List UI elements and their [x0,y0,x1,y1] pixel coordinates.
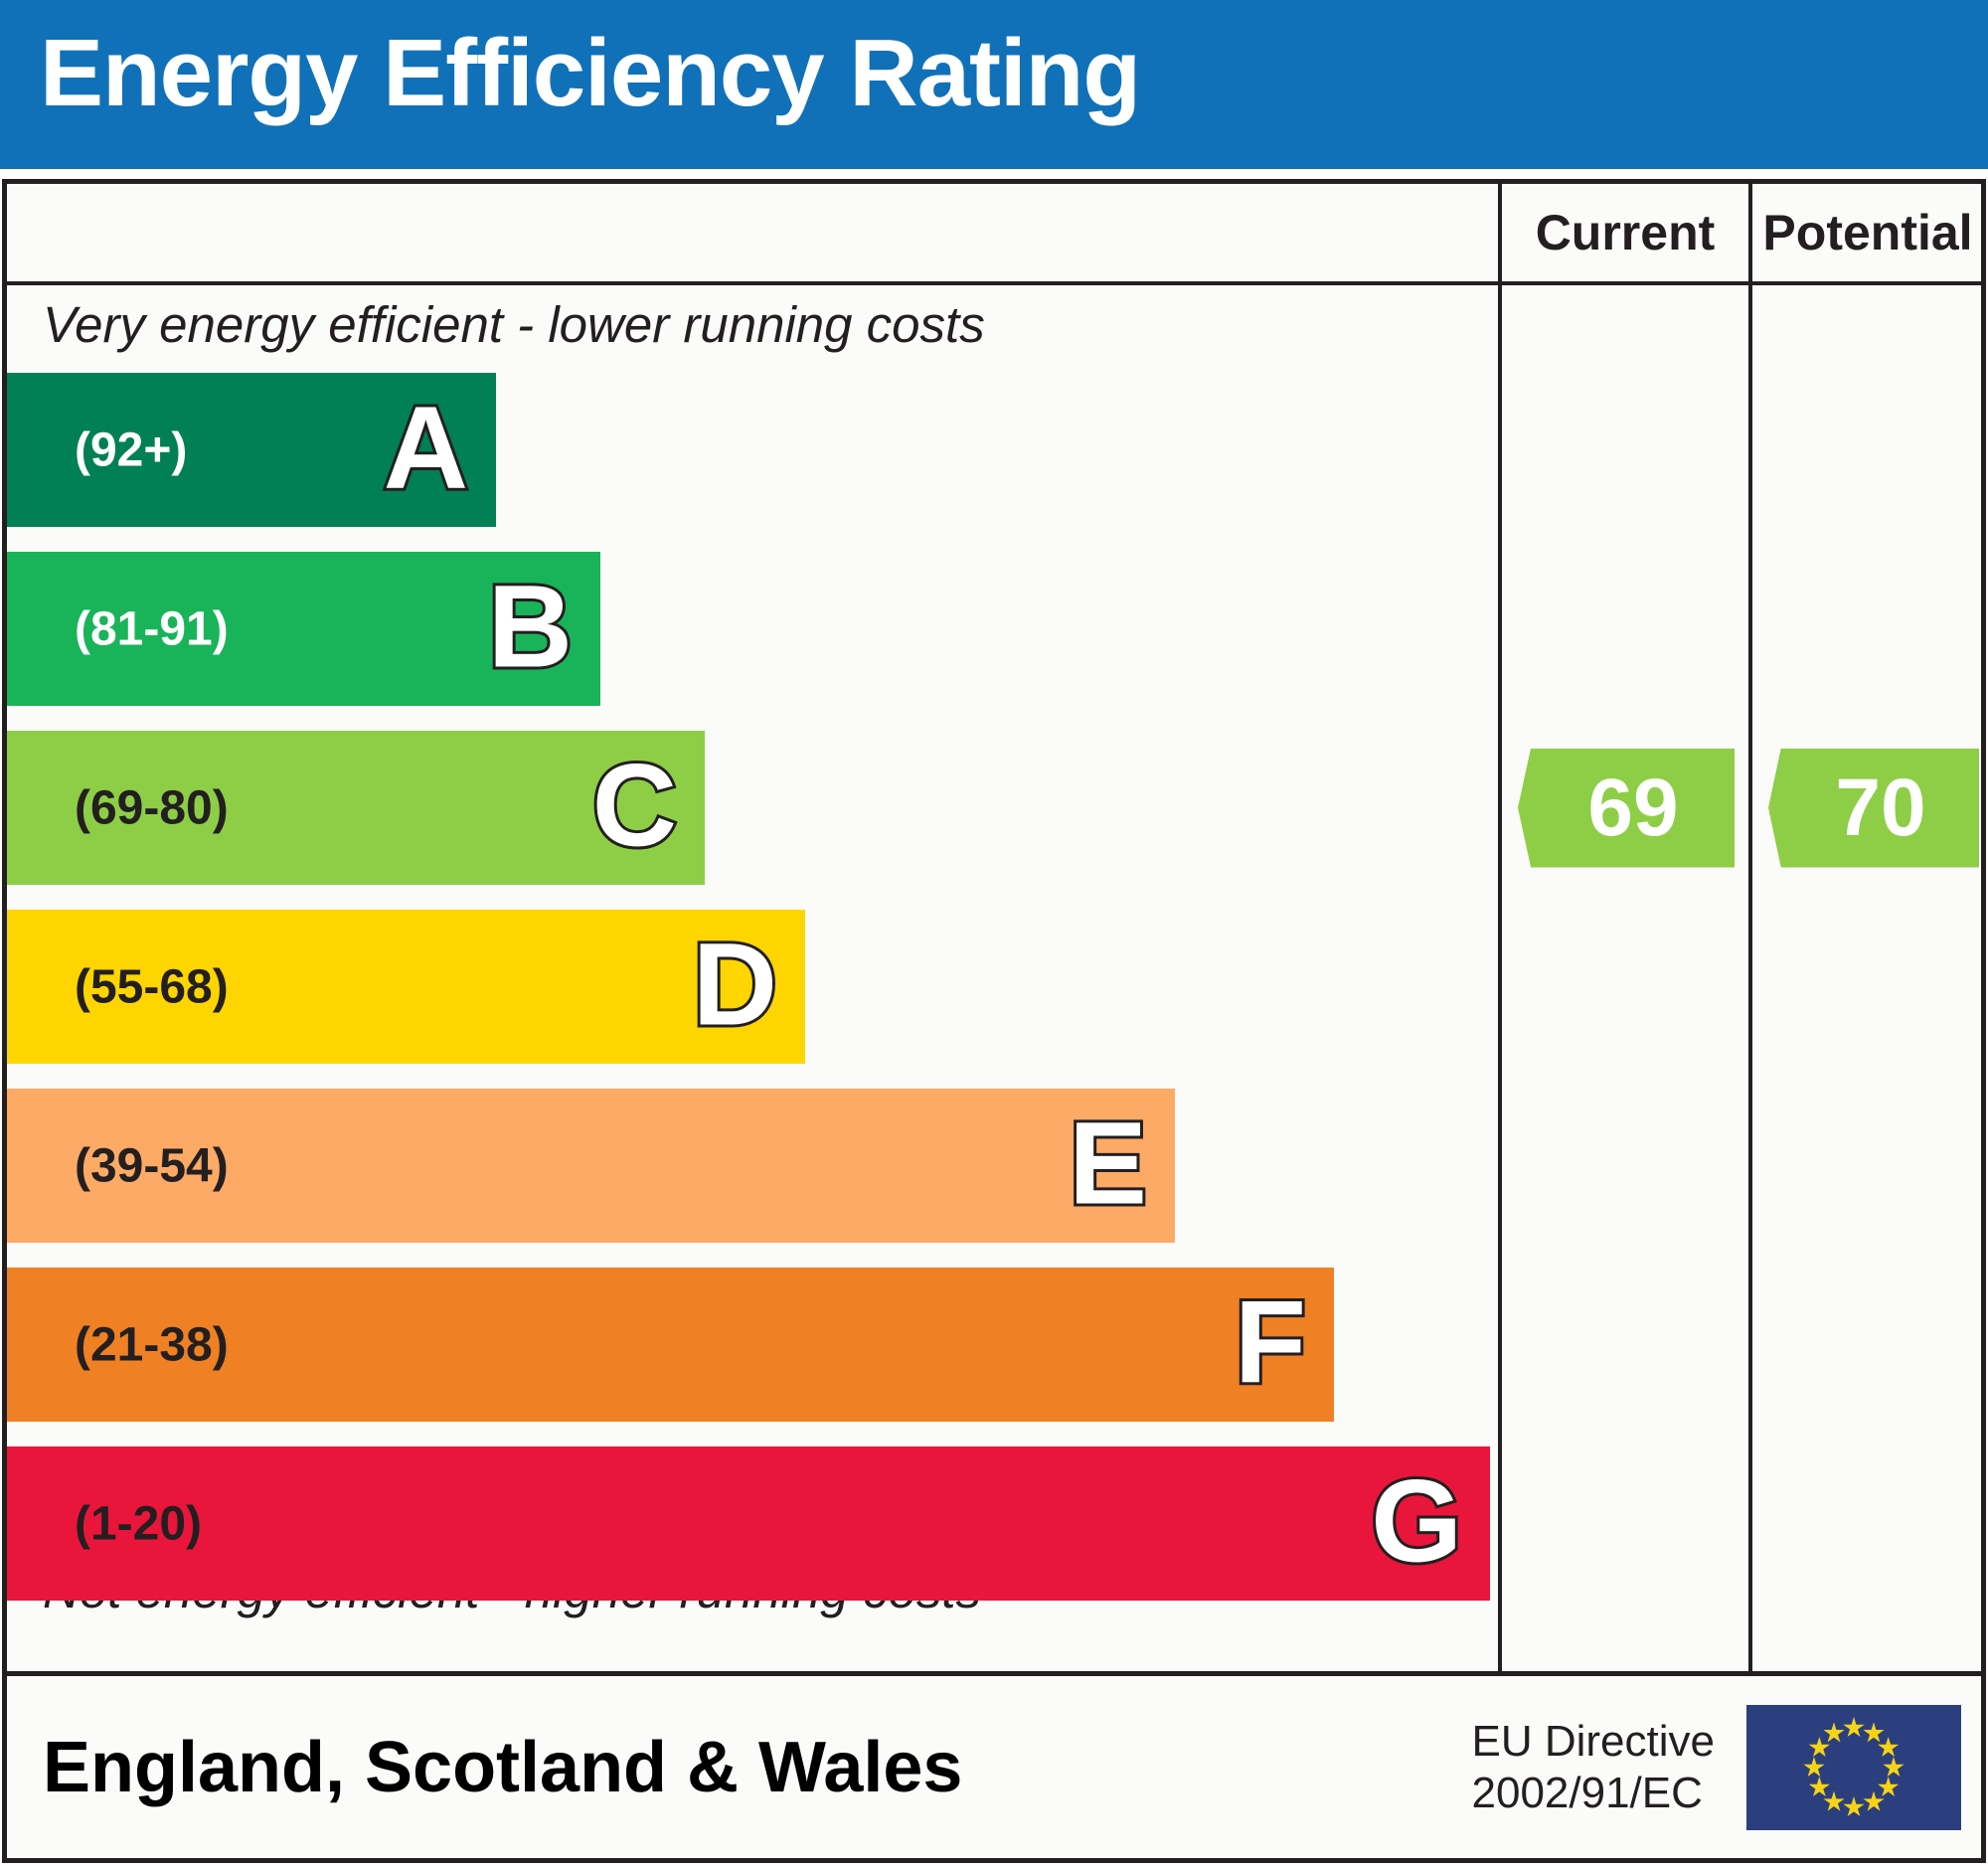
band-a-letter: A [384,389,468,506]
vertical-divider-current-potential [1748,184,1752,1671]
band-a-range: (92+) [75,423,187,477]
page-title: Energy Efficiency Rating [40,16,1140,130]
eu-star-icon [1863,1722,1885,1744]
eu-star-icon [1808,1777,1830,1798]
band-a: (92+) A [7,373,496,527]
eu-star-icon [1823,1722,1845,1744]
band-d-range: (55-68) [75,959,229,1014]
band-d-letter: D [693,926,777,1043]
rating-bands: (92+) A (81-91) B (69-80) C (55-68) D (3… [7,373,1498,1566]
band-g: (1-20) G [7,1446,1490,1601]
potential-rating-marker: 70 [1768,749,1979,868]
eu-star-icon [1843,1717,1865,1739]
band-b: (81-91) B [7,552,600,706]
band-e: (39-54) E [7,1089,1175,1243]
eu-star-icon [1863,1791,1885,1813]
band-c-range: (69-80) [75,780,229,835]
band-e-range: (39-54) [75,1138,229,1193]
eu-star-icon [1803,1757,1825,1779]
eu-star-icon [1823,1791,1845,1813]
eu-directive-line-1: EU Directive [1472,1716,1716,1768]
energy-efficiency-certificate: Energy Efficiency Rating Current Potenti… [0,0,1988,1867]
caption-top: Very energy efficient - lower running co… [43,295,985,354]
band-c: (69-80) C [7,731,705,885]
country-label: England, Scotland & Wales [43,1727,962,1808]
title-bar: Energy Efficiency Rating [0,0,1988,169]
current-rating-marker: 69 [1518,749,1735,868]
eu-star-icon [1808,1737,1830,1759]
eu-star-icon [1843,1796,1865,1818]
band-b-range: (81-91) [75,601,229,656]
eu-directive-label: EU Directive 2002/91/EC [1472,1716,1716,1819]
band-g-letter: G [1371,1462,1462,1580]
eu-star-icon [1878,1737,1900,1759]
band-g-range: (1-20) [75,1496,202,1551]
column-header-potential: Potential [1752,184,1983,281]
footer: England, Scotland & Wales EU Directive 2… [7,1676,1983,1859]
band-b-letter: B [488,568,573,685]
eu-star-icon [1883,1757,1905,1779]
band-c-letter: C [592,747,677,864]
column-header-row: Current Potential [7,184,1981,281]
column-header-current: Current [1502,184,1748,281]
eu-directive-line-2: 2002/91/EC [1472,1768,1716,1819]
band-f: (21-38) F [7,1268,1334,1422]
band-d: (55-68) D [7,910,805,1064]
eu-flag-icon [1746,1705,1961,1830]
band-f-letter: F [1235,1283,1306,1401]
band-e-letter: E [1069,1104,1147,1222]
band-f-range: (21-38) [75,1317,229,1372]
eu-star-icon [1878,1777,1900,1798]
header-divider [7,281,1983,285]
vertical-divider-chart-current [1498,184,1502,1671]
chart-frame: Current Potential Very energy efficient … [2,179,1986,1863]
